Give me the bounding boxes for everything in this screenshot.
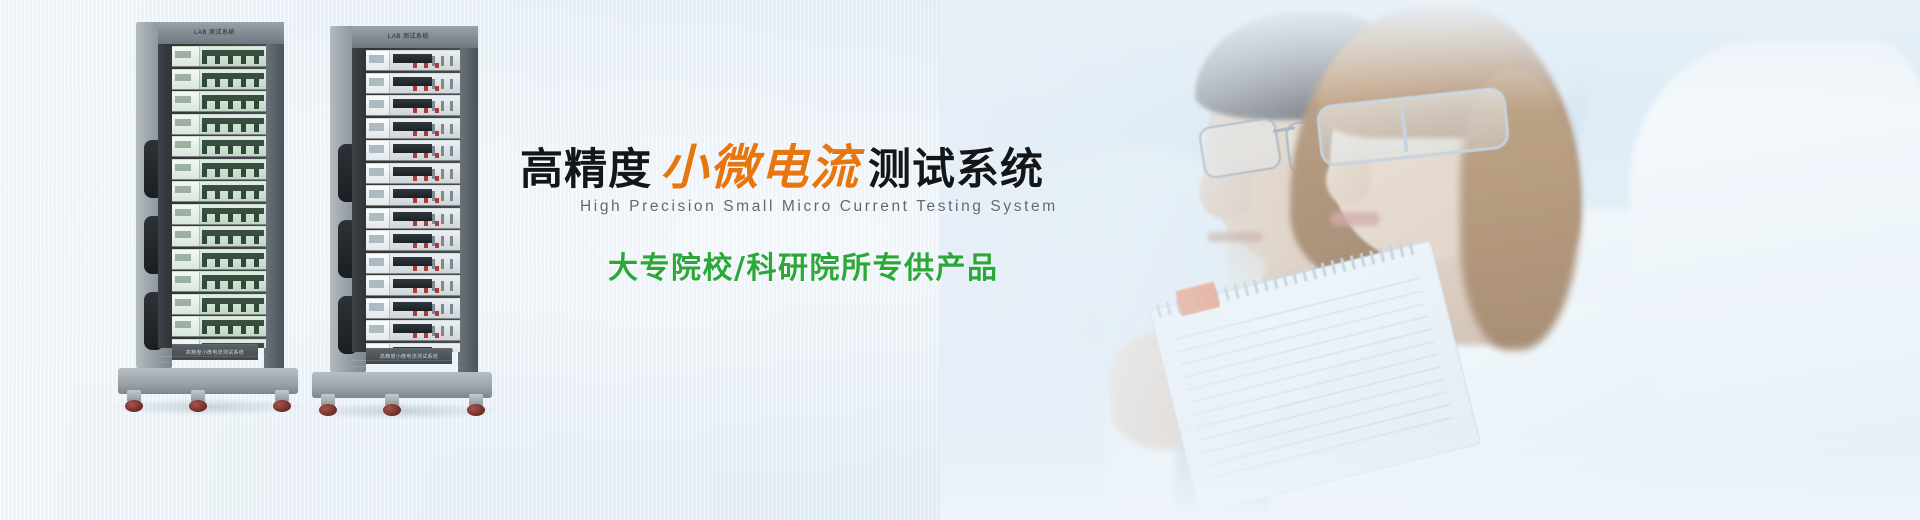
instrument-left-panel <box>366 321 390 340</box>
rack-base <box>118 368 298 394</box>
instrument-buttons <box>202 169 264 177</box>
instrument-buttons <box>202 124 264 132</box>
instrument-buttons <box>202 101 264 109</box>
rack-caster <box>318 394 338 416</box>
instrument-right-panel <box>390 141 460 160</box>
instrument-right-panel <box>390 321 460 340</box>
instrument-right-panel <box>200 115 266 134</box>
instrument-indicator-leds <box>413 243 443 248</box>
instrument-right-panel <box>390 119 460 138</box>
instrument-right-panel <box>390 254 460 273</box>
instrument-left-panel <box>172 205 200 224</box>
photo-bottom-fade <box>940 430 1920 520</box>
subtitle-chinese: 大专院校/科研院所专供产品 <box>608 243 998 287</box>
instrument-display <box>393 257 432 266</box>
rack-caster <box>272 390 292 412</box>
product-hero-banner: LAB 测试系统 高精度小微电流测试系统 LA <box>0 0 1920 520</box>
instrument-right-panel <box>200 250 266 269</box>
rack-nameplate-text: 高精度小微电流测试系统 <box>186 349 244 356</box>
rack-caster <box>188 390 208 412</box>
rack-instrument-bay <box>352 48 460 352</box>
instrument-left-panel <box>172 272 200 291</box>
rack-instrument-unit <box>366 275 460 296</box>
instrument-right-panel <box>390 276 460 295</box>
rack-caster <box>466 394 486 416</box>
rack-instrument-unit <box>366 185 460 206</box>
instrument-left-panel <box>366 231 390 250</box>
instrument-indicator-leds <box>413 266 443 271</box>
instrument-indicator-leds <box>413 63 443 68</box>
instrument-buttons <box>202 79 264 87</box>
instrument-left-panel <box>172 227 200 246</box>
instrument-left-panel <box>366 119 390 138</box>
instrument-display <box>393 99 432 108</box>
instrument-left-panel <box>172 47 200 66</box>
instrument-right-panel <box>200 182 266 201</box>
banner-text-block: 高精度 小微电流 测试系统 High Precision Small Micro… <box>520 128 1040 348</box>
rack-instrument-unit <box>172 114 266 135</box>
rack-instrument-unit <box>366 118 460 139</box>
rack-instrument-unit <box>366 208 460 229</box>
rack-right-upright <box>458 32 478 372</box>
rack-right-upright <box>264 28 284 368</box>
instrument-right-panel <box>200 137 266 156</box>
caster-wheel <box>319 404 337 416</box>
instrument-buttons <box>202 304 264 312</box>
rack-instrument-unit <box>366 320 460 341</box>
instrument-right-panel <box>390 209 460 228</box>
instrument-display <box>393 122 432 131</box>
instrument-left-panel <box>172 317 200 336</box>
rack-left-mint: LAB 测试系统 高精度小微电流测试系统 <box>136 22 284 394</box>
rack-instrument-unit <box>172 271 266 292</box>
instrument-display <box>393 144 432 153</box>
rack-instrument-unit <box>172 316 266 337</box>
instrument-right-panel <box>390 96 460 115</box>
rack-instrument-unit <box>172 159 266 180</box>
instrument-buttons <box>202 281 264 289</box>
photo-top-fade <box>940 0 1920 110</box>
rack-instrument-unit <box>172 136 266 157</box>
instrument-indicator-leds <box>413 198 443 203</box>
instrument-indicator-leds <box>413 108 443 113</box>
rack-instrument-unit <box>172 181 266 202</box>
rack-nameplate-text: 高精度小微电流测试系统 <box>380 353 438 360</box>
page-title: 高精度 小微电流 测试系统 <box>520 128 1044 198</box>
instrument-buttons <box>202 146 264 154</box>
instrument-display <box>393 54 432 63</box>
instrument-indicator-leds <box>413 86 443 91</box>
rack-instrument-unit <box>366 140 460 161</box>
headline-part-3: 测试系统 <box>868 135 1044 197</box>
rack-top-bar: LAB 测试系统 <box>158 22 284 44</box>
instrument-left-panel <box>366 186 390 205</box>
instrument-indicator-leds <box>413 311 443 316</box>
instrument-display <box>393 302 432 311</box>
instrument-buttons <box>202 56 264 64</box>
instrument-left-panel <box>366 299 390 318</box>
rack-right-gray: LAB 测试系统 高精度小微电流测试系统 <box>330 26 478 398</box>
instrument-left-panel <box>172 160 200 179</box>
instrument-buttons <box>202 236 264 244</box>
instrument-left-panel <box>172 295 200 314</box>
rack-instrument-unit <box>366 230 460 251</box>
instrument-right-panel <box>390 51 460 70</box>
instrument-left-panel <box>366 276 390 295</box>
instrument-buttons <box>202 191 264 199</box>
instrument-right-panel <box>200 317 266 336</box>
instrument-right-panel <box>200 272 266 291</box>
rack-caster <box>382 394 402 416</box>
instrument-right-panel <box>390 186 460 205</box>
caster-wheel <box>189 400 207 412</box>
headline-highlight: 小微电流 <box>652 128 868 198</box>
instrument-right-panel <box>200 160 266 179</box>
instrument-buttons <box>202 214 264 222</box>
caster-wheel <box>383 404 401 416</box>
rack-instrument-unit <box>172 46 266 67</box>
instrument-left-panel <box>172 92 200 111</box>
instrument-left-panel <box>366 96 390 115</box>
instrument-right-panel <box>390 231 460 250</box>
subtitle-english: High Precision Small Micro Current Testi… <box>580 198 1058 216</box>
instrument-left-panel <box>366 209 390 228</box>
rack-instrument-unit <box>366 73 460 94</box>
instrument-display <box>393 234 432 243</box>
rack-caster <box>124 390 144 412</box>
instrument-buttons <box>202 259 264 267</box>
instrument-right-panel <box>390 299 460 318</box>
instrument-display <box>393 189 432 198</box>
lab-researchers-photo <box>940 0 1920 520</box>
instrument-indicator-leds <box>413 288 443 293</box>
rack-instrument-unit <box>366 253 460 274</box>
rack-instrument-unit <box>172 226 266 247</box>
instrument-display <box>393 279 432 288</box>
instrument-right-panel <box>200 227 266 246</box>
instrument-display <box>393 167 432 176</box>
instrument-right-panel <box>390 164 460 183</box>
instrument-left-panel <box>172 250 200 269</box>
rack-instrument-unit <box>172 249 266 270</box>
rack-instrument-bay <box>158 44 266 348</box>
instrument-right-panel <box>200 70 266 89</box>
instrument-left-panel <box>366 141 390 160</box>
instrument-indicator-leds <box>413 153 443 158</box>
instrument-left-panel <box>366 164 390 183</box>
rack-instrument-unit <box>172 204 266 225</box>
rack-instrument-unit <box>172 294 266 315</box>
rack-instrument-unit <box>366 95 460 116</box>
rack-base <box>312 372 492 398</box>
instrument-left-panel <box>366 51 390 70</box>
rack-instrument-unit <box>366 50 460 71</box>
caster-wheel <box>273 400 291 412</box>
instrument-indicator-leds <box>413 131 443 136</box>
rack-instrument-unit <box>172 91 266 112</box>
headline-part-1: 高精度 <box>520 135 652 197</box>
rack-top-bar: LAB 测试系统 <box>352 26 478 48</box>
instrument-display <box>393 212 432 221</box>
instrument-right-panel <box>200 295 266 314</box>
instrument-left-panel <box>172 182 200 201</box>
rack-top-label: LAB 测试系统 <box>388 31 429 40</box>
instrument-indicator-leds <box>413 221 443 226</box>
instrument-buttons <box>202 326 264 334</box>
instrument-indicator-leds <box>413 333 443 338</box>
caster-wheel <box>467 404 485 416</box>
instrument-display <box>393 77 432 86</box>
instrument-left-panel <box>172 137 200 156</box>
instrument-indicator-leds <box>413 176 443 181</box>
instrument-right-panel <box>200 92 266 111</box>
rack-instrument-unit <box>172 69 266 90</box>
instrument-right-panel <box>390 74 460 93</box>
instrument-display <box>393 324 432 333</box>
rack-instrument-unit <box>366 163 460 184</box>
instrument-right-panel <box>200 205 266 224</box>
instrument-left-panel <box>172 70 200 89</box>
instrument-left-panel <box>366 254 390 273</box>
instrument-right-panel <box>200 47 266 66</box>
rack-instrument-unit <box>366 298 460 319</box>
instrument-left-panel <box>366 74 390 93</box>
instrument-left-panel <box>172 115 200 134</box>
rack-top-label: LAB 测试系统 <box>194 27 235 36</box>
caster-wheel <box>125 400 143 412</box>
